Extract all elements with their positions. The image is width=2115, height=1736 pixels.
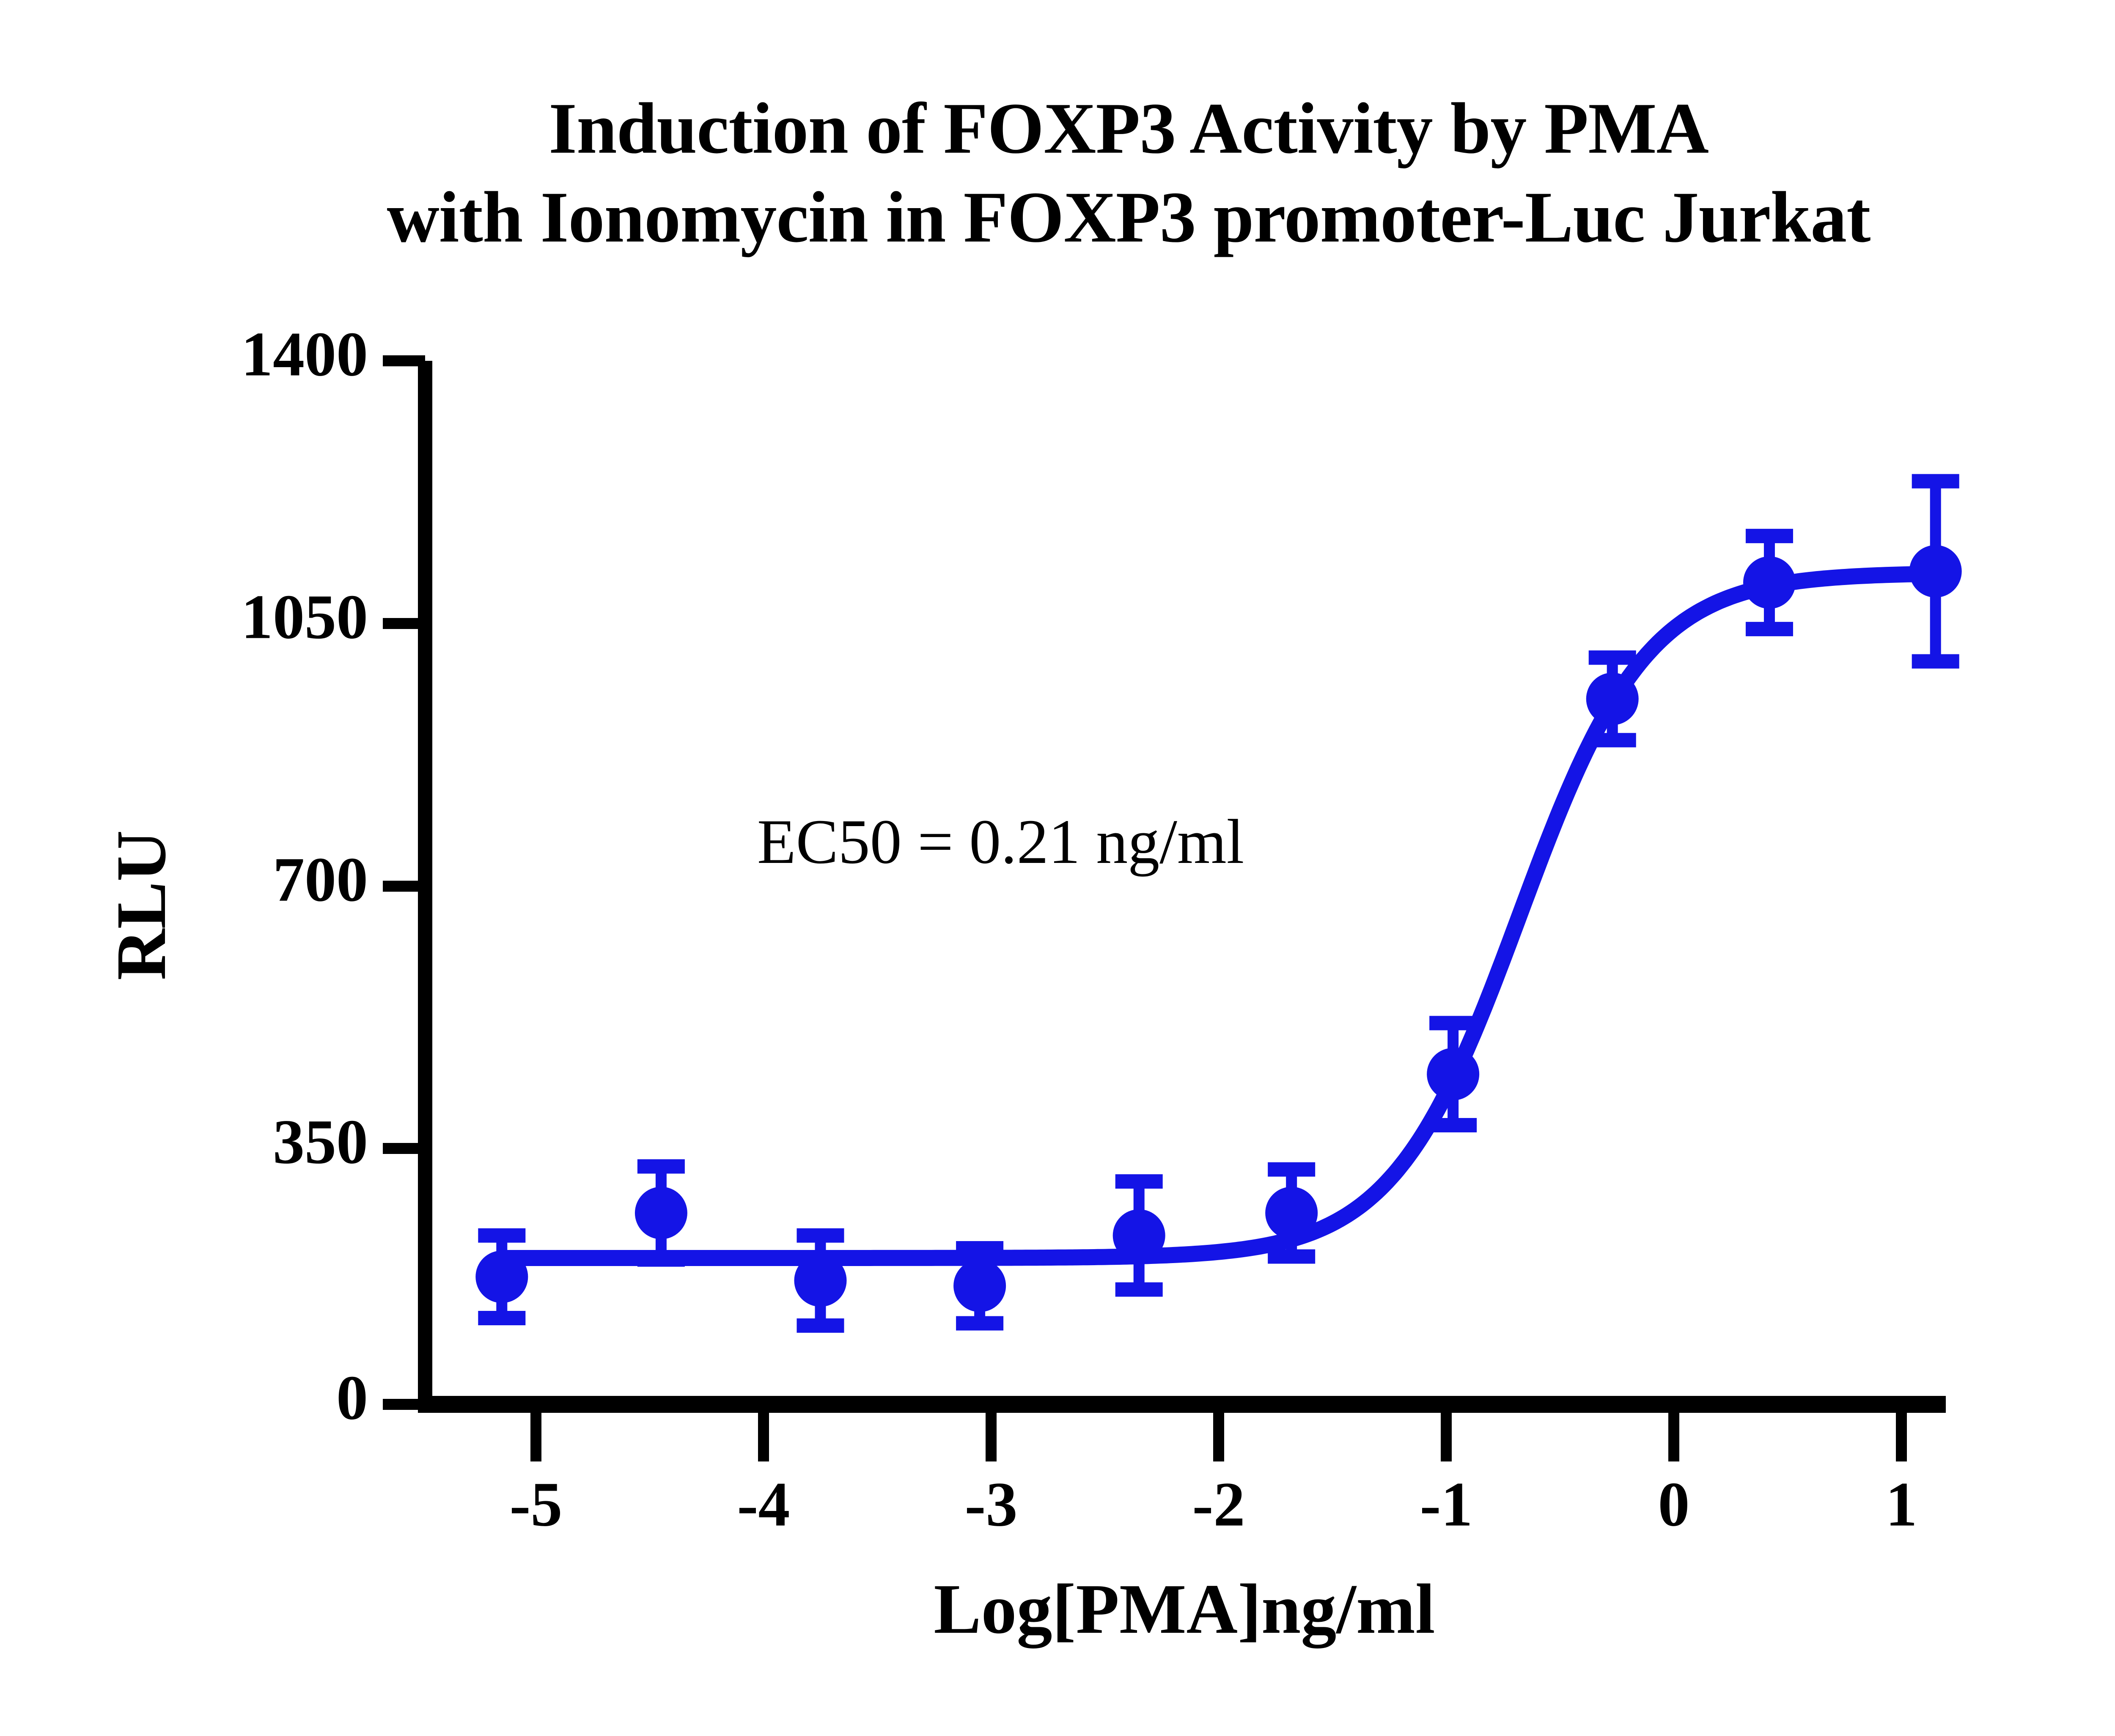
data-series-layer — [475, 481, 1961, 1326]
data-point-group — [1909, 481, 1962, 662]
data-point-marker — [1427, 1048, 1479, 1100]
y-tick-label-0: 0 — [336, 1362, 368, 1433]
x-tick-label-neg4: -4 — [737, 1469, 790, 1539]
data-point-marker — [1265, 1187, 1318, 1239]
x-tick-label-1: 1 — [1886, 1469, 1917, 1539]
fit-curve — [502, 574, 1947, 1258]
chart-figure: Induction of FOXP3 Activity by PMA with … — [0, 0, 2115, 1736]
data-point-group — [1743, 536, 1796, 629]
x-tick-label-neg3: -3 — [965, 1469, 1018, 1539]
x-tick-marks — [536, 1413, 1901, 1461]
x-tick-label-neg5: -5 — [510, 1469, 563, 1539]
data-point-group — [794, 1236, 847, 1326]
y-tick-label-700: 700 — [273, 844, 368, 915]
data-point-group — [1113, 1181, 1165, 1289]
data-point-marker — [794, 1254, 847, 1307]
ec50-annotation: EC50 = 0.21 ng/ml — [757, 807, 1244, 877]
y-tick-label-350: 350 — [273, 1107, 368, 1177]
x-axis-title: Log[PMA]ng/ml — [934, 1570, 1435, 1648]
plot-area: 1400 1050 700 350 0 -5 -4 -3 -2 -1 0 1 — [0, 0, 2115, 1736]
data-point-marker — [1743, 556, 1796, 609]
data-point-marker — [475, 1250, 528, 1303]
y-axis-title: RLU — [102, 830, 181, 981]
x-tick-label-0: 0 — [1658, 1469, 1690, 1539]
chart-canvas: 1400 1050 700 350 0 -5 -4 -3 -2 -1 0 1 — [0, 0, 2115, 1736]
y-tick-label-1400: 1400 — [241, 319, 368, 389]
x-tick-label-neg2: -2 — [1192, 1469, 1245, 1539]
data-point-marker — [953, 1260, 1006, 1312]
x-tick-label-neg1: -1 — [1420, 1469, 1473, 1539]
data-point-marker — [635, 1187, 687, 1239]
data-point-marker — [1909, 545, 1962, 598]
y-tick-label-1050: 1050 — [241, 582, 368, 652]
data-point-group — [635, 1167, 687, 1260]
data-point-marker — [1113, 1209, 1165, 1262]
data-point-group — [475, 1236, 528, 1318]
data-point-marker — [1586, 673, 1639, 725]
